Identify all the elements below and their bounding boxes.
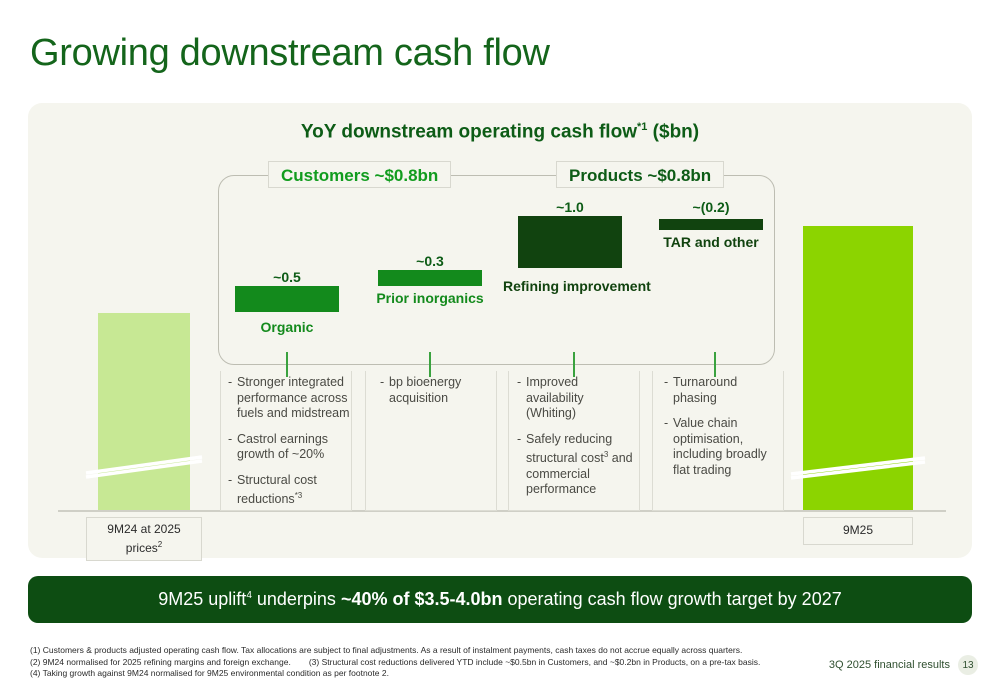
waterfall-plot: 9M24 at 2025 prices2 9M25 ~0.5 Organic ~… [28, 103, 972, 558]
list-item: - Castrol earnings growth of ~20% [228, 432, 350, 463]
footer-source-label: 3Q 2025 financial results [829, 659, 950, 671]
bar-label-organic: Organic [215, 319, 359, 335]
bar-label-refining: Refining improvement [503, 278, 637, 294]
bullet-list-prior-inorganics: - bp bioenergy acquisition [380, 375, 495, 416]
bar-start-total-label-line1: 9M24 at 2025 [107, 522, 180, 536]
bullet-text: Improved availability (Whiting) [526, 375, 637, 422]
bullet-list-organic: - Stronger integrated performance across… [228, 375, 350, 518]
footnote-2: (2) 9M24 normalised for 2025 refining ma… [30, 657, 840, 669]
bullet-dash: - [664, 375, 673, 406]
summary-banner: 9M25 uplift4 underpins ~40% of $3.5-4.0b… [28, 576, 972, 623]
bullet-text: Value chain optimisation, including broa… [673, 416, 776, 478]
page-marker: 3Q 2025 financial results 13 [829, 655, 978, 675]
list-item: - Turnaround phasing [664, 375, 776, 406]
bullet-text: Stronger integrated performance across f… [237, 375, 350, 422]
list-item: - Structural cost reductions*3 [228, 473, 350, 508]
axis-break-end-icon [791, 452, 925, 478]
bullet-dash: - [664, 416, 673, 478]
bullet-list-tar-other: - Turnaround phasing - Value chain optim… [664, 375, 776, 488]
footnote-2a: (2) 9M24 normalised for 2025 refining ma… [30, 657, 291, 667]
banner-text: 9M25 uplift4 underpins ~40% of $3.5-4.0b… [158, 589, 841, 610]
axis-baseline [58, 510, 946, 512]
footnote-3: (3) Structural cost reductions delivered… [309, 657, 761, 667]
bar-organic [235, 286, 339, 312]
list-item: - bp bioenergy acquisition [380, 375, 495, 406]
bar-end-total-label: 9M25 [803, 517, 913, 545]
bar-label-prior-inorganics: Prior inorganics [356, 290, 504, 306]
page-number-badge: 13 [958, 655, 978, 675]
bullet-text: Safely reducing structural cost3 and com… [526, 432, 637, 498]
footnotes: (1) Customers & products adjusted operat… [30, 645, 840, 680]
bar-prior-inorganics [378, 270, 482, 286]
page-title: Growing downstream cash flow [30, 32, 550, 75]
list-item: - Improved availability (Whiting) [517, 375, 637, 422]
banner-part1: 9M25 uplift [158, 589, 246, 609]
bullet-text: Structural cost reductions*3 [237, 473, 350, 508]
bar-value-organic: ~0.5 [235, 269, 339, 285]
bar-end-total [803, 226, 913, 510]
bullet-dash: - [517, 432, 526, 498]
bullet-dash: - [228, 375, 237, 422]
bar-start-total-label-line2: prices [126, 541, 158, 555]
banner-part3: operating cash flow growth target by 202… [503, 589, 842, 609]
bullet-text: Castrol earnings growth of ~20% [237, 432, 350, 463]
bar-refining [518, 216, 622, 268]
bar-start-total [98, 313, 190, 510]
bullet-dash: - [380, 375, 389, 406]
bullet-dash: - [228, 473, 237, 508]
footnote-4: (4) Taking growth against 9M24 normalise… [30, 668, 840, 680]
axis-break-icon [86, 451, 202, 477]
bar-label-tar-other: TAR and other [641, 234, 781, 250]
bar-start-total-label-sup: 2 [158, 540, 162, 549]
bullet-text: Turnaround phasing [673, 375, 776, 406]
bullet-list-refining: - Improved availability (Whiting) - Safe… [517, 375, 637, 508]
bar-value-refining: ~1.0 [518, 199, 622, 215]
bullet-dash: - [228, 432, 237, 463]
list-item: - Safely reducing structural cost3 and c… [517, 432, 637, 498]
bar-value-prior-inorganics: ~0.3 [378, 253, 482, 269]
list-item: - Stronger integrated performance across… [228, 375, 350, 422]
bar-start-total-label: 9M24 at 2025 prices2 [86, 517, 202, 561]
bar-value-tar-other: ~(0.2) [659, 199, 763, 215]
bullet-dash: - [517, 375, 526, 422]
chart-card: YoY downstream operating cash flow*1 ($b… [28, 103, 972, 558]
bullet-text: bp bioenergy acquisition [389, 375, 495, 406]
footnote-1: (1) Customers & products adjusted operat… [30, 645, 840, 657]
list-item: - Value chain optimisation, including br… [664, 416, 776, 478]
banner-highlight: ~40% of $3.5-4.0bn [341, 589, 503, 609]
bar-tar-other [659, 219, 763, 230]
banner-part2: underpins [252, 589, 341, 609]
